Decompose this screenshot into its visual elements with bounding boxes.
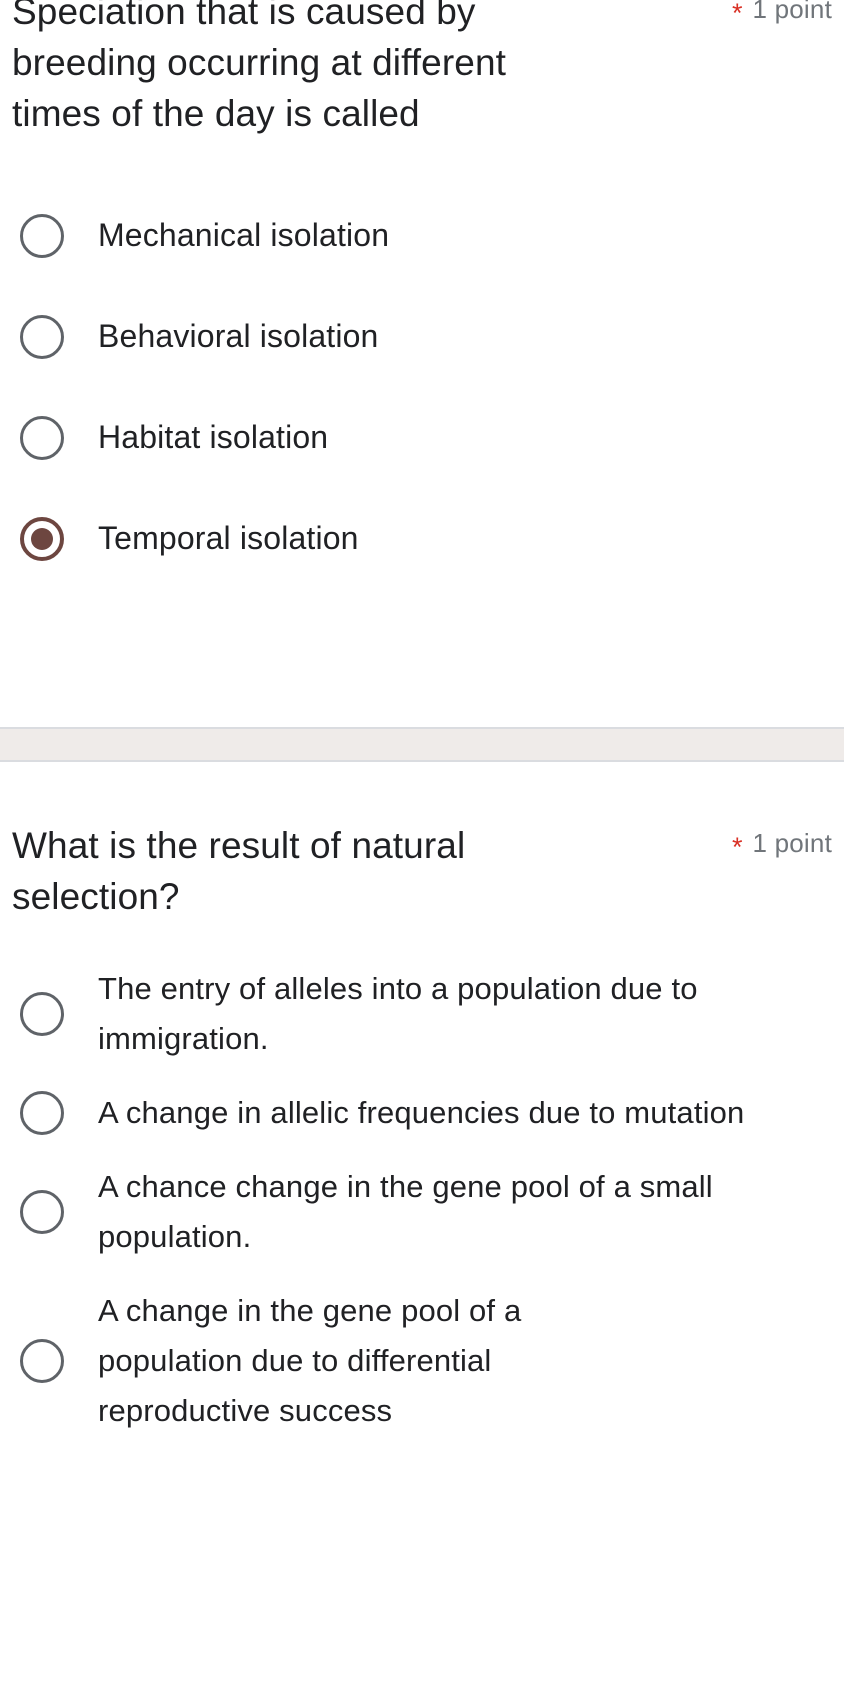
option-label: A change in the gene pool of a populatio…: [98, 1286, 638, 1436]
option-label: A chance change in the gene pool of a sm…: [98, 1162, 788, 1262]
required-asterisk-icon: *: [732, 3, 743, 23]
radio-button-icon[interactable]: [20, 416, 64, 460]
option-row[interactable]: A change in the gene pool of a populatio…: [12, 1274, 832, 1448]
radio-button-icon[interactable]: [20, 1339, 64, 1383]
question-1-points: * 1 point: [732, 0, 832, 24]
required-asterisk-icon: *: [732, 837, 743, 857]
radio-button-icon[interactable]: [20, 1091, 64, 1135]
question-1-header: Speciation that is caused by breeding oc…: [12, 0, 832, 139]
question-2-title: What is the result of natural selection?: [12, 820, 572, 922]
question-2-header: What is the result of natural selection?…: [12, 820, 832, 922]
section-divider-band: [0, 727, 844, 762]
option-row[interactable]: Habitat isolation: [12, 387, 832, 488]
question-card-2: What is the result of natural selection?…: [0, 762, 844, 1704]
radio-button-selected-icon[interactable]: [20, 517, 64, 561]
option-row[interactable]: Behavioral isolation: [12, 286, 832, 387]
option-row[interactable]: The entry of alleles into a population d…: [12, 952, 832, 1076]
option-label: Behavioral isolation: [98, 312, 379, 361]
question-2-points-label: 1 point: [753, 828, 832, 858]
option-row[interactable]: A chance change in the gene pool of a sm…: [12, 1150, 832, 1274]
option-label: Habitat isolation: [98, 413, 328, 462]
question-1-title: Speciation that is caused by breeding oc…: [12, 0, 572, 139]
question-card-1: Speciation that is caused by breeding oc…: [0, 0, 844, 727]
option-row-selected[interactable]: Temporal isolation: [12, 488, 832, 589]
google-form-page: Speciation that is caused by breeding oc…: [0, 0, 844, 1704]
option-row[interactable]: Mechanical isolation: [12, 185, 832, 286]
question-1-options: Mechanical isolation Behavioral isolatio…: [12, 185, 832, 589]
radio-button-icon[interactable]: [20, 315, 64, 359]
option-label: The entry of alleles into a population d…: [98, 964, 788, 1064]
question-2-points: * 1 point: [732, 820, 832, 858]
option-label: Mechanical isolation: [98, 211, 389, 260]
question-1-points-label: 1 point: [753, 0, 832, 24]
radio-button-icon[interactable]: [20, 214, 64, 258]
radio-button-icon[interactable]: [20, 1190, 64, 1234]
option-row[interactable]: A change in allelic frequencies due to m…: [12, 1076, 832, 1150]
radio-button-icon[interactable]: [20, 992, 64, 1036]
question-2-options: The entry of alleles into a population d…: [12, 952, 832, 1448]
option-label: Temporal isolation: [98, 514, 359, 563]
option-label: A change in allelic frequencies due to m…: [98, 1088, 744, 1138]
